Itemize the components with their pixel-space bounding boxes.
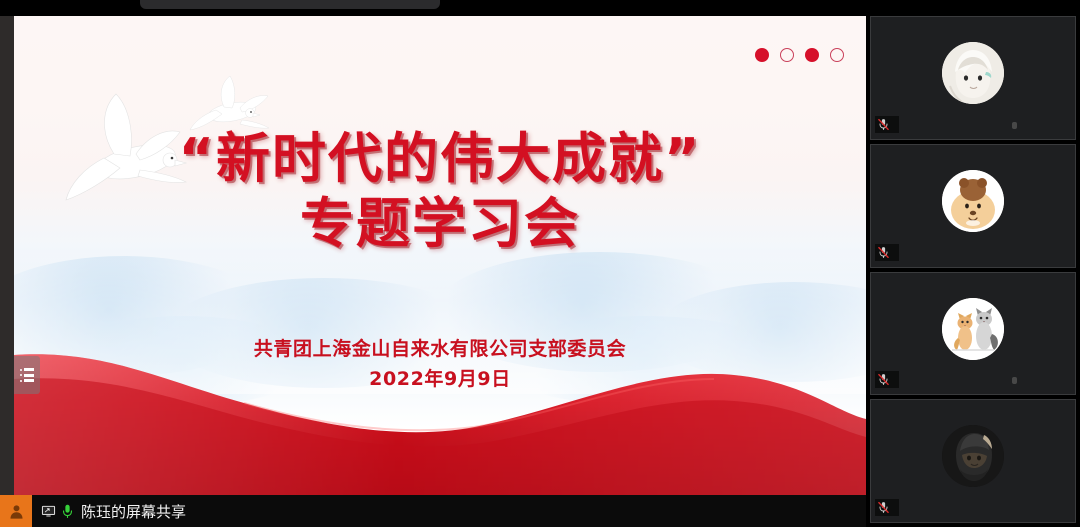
list-icon: [20, 366, 34, 385]
mic-muted-icon: [877, 501, 890, 514]
red-ribbon-decoration: [14, 345, 866, 495]
helmet-photo-avatar: [942, 425, 1004, 487]
participant-name-strip: [875, 371, 899, 388]
participant-name-strip: [875, 116, 899, 133]
mic-muted-icon: [877, 373, 890, 386]
bear-cartoon-avatar: [942, 170, 1004, 232]
monitor-icon: [41, 504, 56, 519]
mic-muted-icon: [877, 118, 890, 131]
tile-indicator: [1012, 122, 1017, 129]
slide-title-line-1: “新时代的伟大成就”: [14, 128, 866, 191]
presenter-share-label: 陈珏的屏幕共享: [81, 501, 186, 522]
microphone-icon: [61, 504, 74, 519]
presentation-slide: “新时代的伟大成就” 专题学习会 共青团上海金山自来水有限公司支部委员会 202…: [14, 16, 866, 495]
status-dot-4: [830, 48, 844, 62]
participant-tile-2[interactable]: [870, 144, 1076, 268]
participant-name-strip: [875, 499, 899, 516]
meeting-window: “新时代的伟大成就” 专题学习会 共青团上海金山自来水有限公司支部委员会 202…: [0, 0, 1080, 527]
status-dot-3: [805, 48, 819, 62]
slide-list-button[interactable]: [14, 356, 40, 394]
slide-title-line-2: 专题学习会: [14, 193, 866, 256]
participant-video-panel[interactable]: [866, 0, 1080, 527]
collapsed-toolbar-handle[interactable]: [140, 0, 440, 9]
participant-tile-4[interactable]: [870, 399, 1076, 523]
slide-title-block: “新时代的伟大成就” 专题学习会: [14, 128, 866, 255]
slide-status-dots: [755, 48, 844, 62]
tile-indicator: [1012, 377, 1017, 384]
person-icon: [0, 495, 32, 527]
status-dot-2: [780, 48, 794, 62]
left-rail: [0, 16, 14, 511]
mic-muted-icon: [877, 246, 890, 259]
participant-name-strip: [875, 244, 899, 261]
participant-tile-3[interactable]: [870, 272, 1076, 396]
anime-character-avatar: [942, 42, 1004, 104]
status-dot-1: [755, 48, 769, 62]
shared-screen-area[interactable]: “新时代的伟大成就” 专题学习会 共青团上海金山自来水有限公司支部委员会 202…: [14, 16, 866, 495]
share-indicator-icons: [41, 504, 74, 519]
participant-tile-1[interactable]: [870, 16, 1076, 140]
top-strip: [0, 0, 880, 16]
two-cats-avatar: [942, 298, 1004, 360]
screen-share-status-bar: 陈珏的屏幕共享: [0, 495, 866, 527]
